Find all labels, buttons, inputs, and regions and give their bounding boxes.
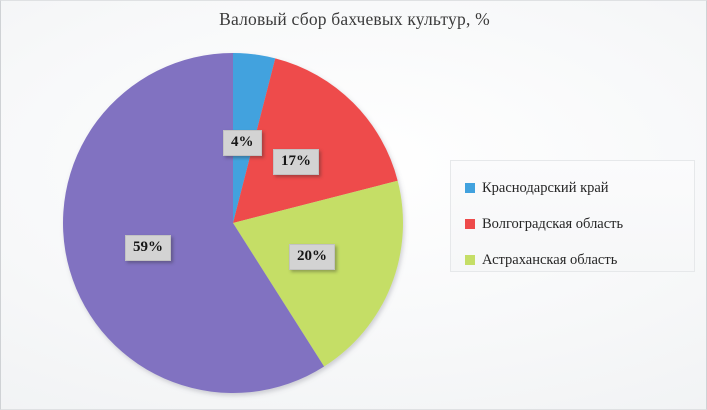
pie-slices-group xyxy=(63,53,403,393)
legend-label-krasnodar: Краснодарский край xyxy=(482,180,609,197)
legend-item-krasnodar[interactable]: Краснодарский край xyxy=(465,173,694,203)
data-label-astrakhan: 20% xyxy=(289,244,335,270)
chart-legend: Краснодарский край Волгоградская область… xyxy=(450,160,695,272)
pie-chart-figure: Валовый сбор бахчевых культур, % 4% 17% … xyxy=(0,0,707,410)
data-label-other: 59% xyxy=(125,235,171,261)
legend-swatch-icon-astrakhan xyxy=(465,255,475,265)
legend-label-volgograd: Волгоградская область xyxy=(482,216,623,233)
data-label-volgograd: 17% xyxy=(273,149,319,175)
legend-label-astrakhan: Астраханская область xyxy=(482,252,617,269)
legend-item-volgograd[interactable]: Волгоградская область xyxy=(465,209,694,239)
legend-item-astrakhan[interactable]: Астраханская область xyxy=(465,245,694,275)
legend-swatch-icon-krasnodar xyxy=(465,183,475,193)
data-label-krasnodar: 4% xyxy=(223,130,262,156)
legend-swatch-icon-volgograd xyxy=(465,219,475,229)
